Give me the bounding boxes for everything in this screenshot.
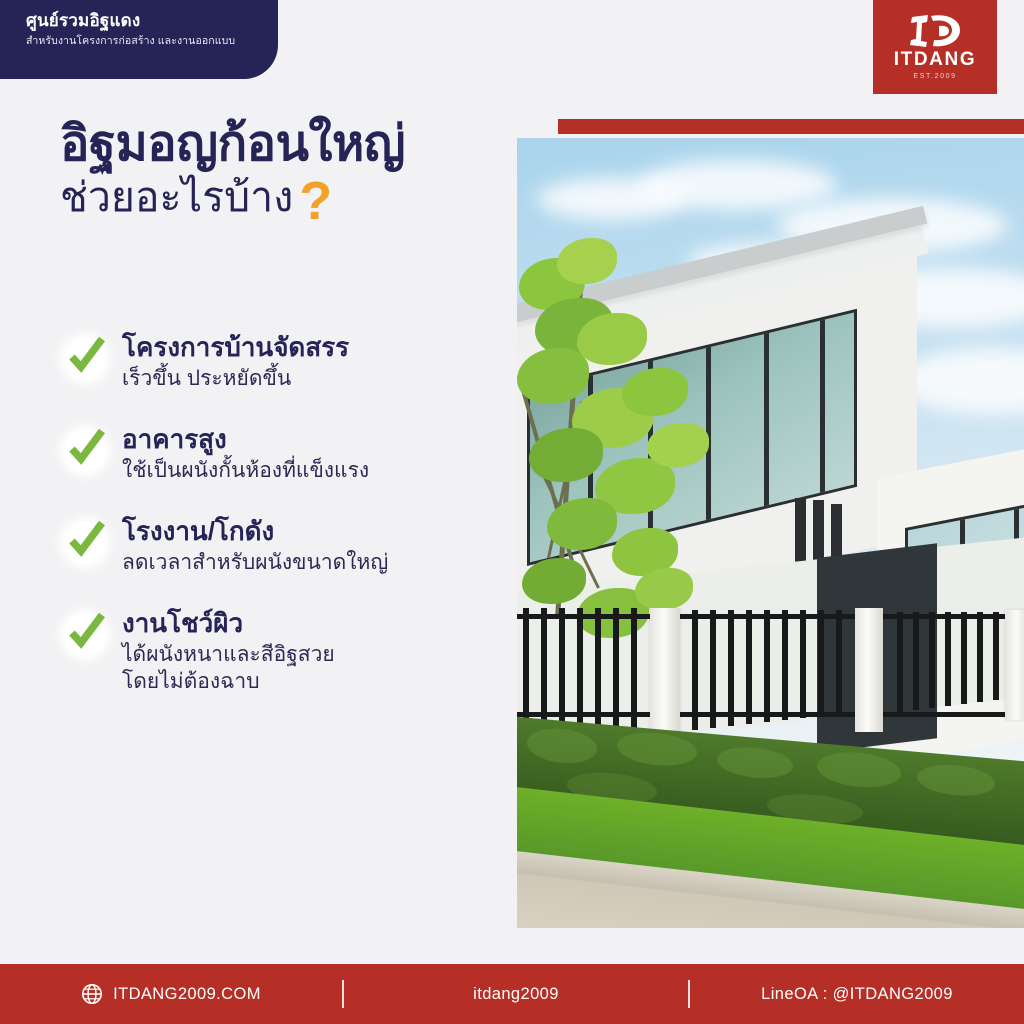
list-item: โรงงาน/โกดัง ลดเวลาสำหรับผนังขนาดใหญ่ — [58, 514, 498, 576]
check-circle-icon — [58, 516, 112, 570]
benefit-title: โครงการบ้านจัดสรร — [122, 332, 349, 363]
benefit-line: ได้ผนังหนาและสีอิฐสวย — [122, 641, 335, 668]
itdang-monogram-icon — [906, 14, 964, 48]
footer-bar: ITDANG2009.COM itdang2009 LineOA : @ITDA… — [0, 964, 1024, 1024]
footer-website-label: ITDANG2009.COM — [113, 985, 261, 1004]
benefit-line: เร็วขึ้น ประหยัดขึ้น — [122, 365, 349, 392]
list-item: งานโชว์ผิว ได้ผนังหนาและสีอิฐสวย โดยไม่ต… — [58, 606, 498, 695]
footer-line-label: LineOA : @ITDANG2009 — [761, 985, 953, 1004]
header-title: ศูนย์รวมอิฐแดง — [26, 10, 278, 33]
red-accent-bar — [558, 119, 1024, 134]
benefit-title: อาคารสูง — [122, 424, 369, 455]
list-item: โครงการบ้านจัดสรร เร็วขึ้น ประหยัดขึ้น — [58, 330, 498, 392]
globe-icon — [81, 983, 103, 1005]
header-subtitle: สำหรับงานโครงการก่อสร้าง และงานออกแบบ — [26, 34, 278, 49]
benefit-list: โครงการบ้านจัดสรร เร็วขึ้น ประหยัดขึ้น อ… — [58, 330, 498, 695]
header-badge: ศูนย์รวมอิฐแดง สำหรับงานโครงการก่อสร้าง … — [0, 0, 278, 79]
headline: อิฐมอญก้อนใหญ่ ช่วยอะไรบ้าง ? — [60, 119, 405, 219]
benefit-title: โรงงาน/โกดัง — [122, 516, 388, 547]
check-circle-icon — [58, 424, 112, 478]
benefit-line: ลดเวลาสำหรับผนังขนาดใหญ่ — [122, 549, 388, 576]
headline-line-2-row: ช่วยอะไรบ้าง ? — [60, 175, 405, 219]
question-mark-icon: ? — [299, 179, 332, 223]
footer-facebook-label: itdang2009 — [473, 985, 559, 1004]
headline-line-2: ช่วยอะไรบ้าง — [60, 176, 293, 219]
footer-facebook[interactable]: itdang2009 — [344, 964, 688, 1024]
benefit-line: ใช้เป็นผนังกั้นห้องที่แข็งแรง — [122, 457, 369, 484]
footer-divider — [688, 980, 690, 1008]
footer-line[interactable]: LineOA : @ITDANG2009 — [690, 964, 1024, 1024]
check-circle-icon — [58, 608, 112, 662]
benefit-title: งานโชว์ผิว — [122, 608, 335, 639]
brand-logo: ITDANG EST.2009 — [873, 0, 997, 94]
hero-photo — [517, 138, 1024, 928]
check-circle-icon — [58, 332, 112, 386]
logo-wordmark: ITDANG — [894, 50, 976, 69]
logo-established: EST.2009 — [913, 73, 956, 80]
footer-divider — [342, 980, 344, 1008]
list-item: อาคารสูง ใช้เป็นผนังกั้นห้องที่แข็งแรง — [58, 422, 498, 484]
headline-line-1: อิฐมอญก้อนใหญ่ — [60, 119, 405, 171]
footer-website[interactable]: ITDANG2009.COM — [0, 964, 342, 1024]
benefit-line: โดยไม่ต้องฉาบ — [122, 668, 335, 695]
